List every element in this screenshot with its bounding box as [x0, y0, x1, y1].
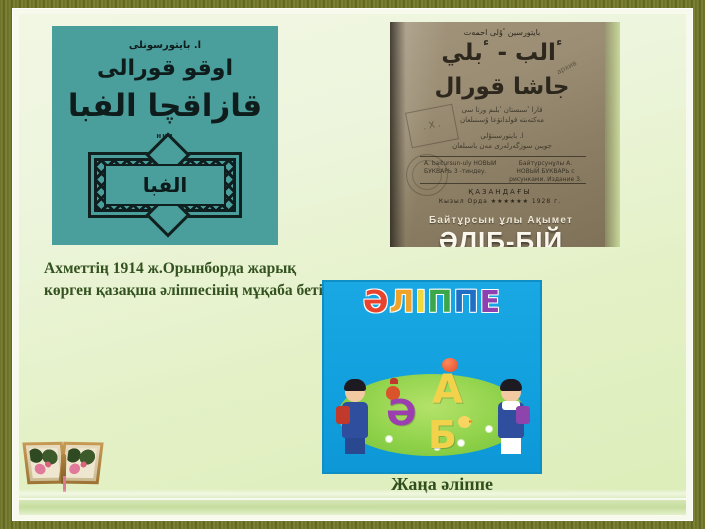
schoolgirl-illustration — [498, 382, 524, 454]
schoolgirl-head — [501, 382, 521, 402]
schoolboy-hair — [344, 379, 366, 391]
satchel-icon — [336, 406, 350, 424]
satchel-icon — [516, 406, 530, 424]
teal-cover-author-line: ا. بايتورسونلى — [52, 40, 278, 51]
schoolboy-illustration — [342, 382, 368, 454]
teal-cover-subtitle-line: اوقو قورالى — [52, 56, 278, 81]
image-alib-biy-photo-cover: بايتورسين ٴۇلى احمەت ٴالب - ٴبلي جاشا قو… — [390, 22, 620, 247]
caption-left-text: Ахметтің 1914 ж.Орынборда жарық көрген қ… — [44, 258, 334, 302]
book-scene-left — [29, 448, 61, 478]
open-book-icon — [19, 428, 105, 500]
alippe-title-letter-2: І — [415, 285, 427, 320]
flower-icon — [486, 426, 492, 432]
rooster-comb — [390, 378, 398, 384]
schoolgirl-legs — [501, 438, 521, 454]
lawn-letter-a: А — [432, 370, 463, 410]
alib-biy-photo-art: بايتورسين ٴۇلى احمەت ٴالب - ٴبلي جاشا قو… — [390, 22, 620, 247]
slide: ا. بايتورسونلى اوقو قورالى قازاقچا الفبا… — [0, 0, 705, 529]
alib-biy-author: Байтұрсын ұлы Ақымет — [400, 215, 602, 226]
schoolboy-legs — [345, 438, 365, 454]
chick-icon — [458, 416, 471, 428]
flower-icon — [386, 436, 392, 442]
lawn-letter-b: Б — [428, 416, 457, 454]
alib-biy-top-line: بايتورسين ٴۇلى احمەت — [404, 28, 600, 37]
alippe-title-letter-5: Е — [480, 285, 502, 320]
library-stamp-round-icon — [406, 154, 448, 196]
schoolboy-head — [345, 382, 365, 402]
alib-biy-title: ӘЛІБ-БІЙ — [400, 226, 602, 247]
emblem-plate: الفبا — [104, 164, 226, 206]
book-ribbon — [63, 476, 66, 492]
emblem-text: الفبا — [143, 173, 187, 197]
teal-cover-art: ا. بايتورسونلى اوقو قورالى قازاقچا الفبا… — [52, 26, 278, 245]
alippe-cover-art: ӘЛІППЕ А Ә Б — [324, 282, 540, 472]
alippe-title-letter-1: Л — [389, 285, 415, 320]
teal-cover-title-line: قازاقچا الفبا — [52, 88, 278, 124]
flower-icon — [458, 440, 464, 446]
caption-bottom-text: Жаңа әліппе — [322, 474, 562, 495]
alippe-title-letter-3: П — [427, 285, 453, 320]
alippe-title-letter-0: Ә — [363, 285, 389, 320]
teal-cover-emblem: الفبا — [88, 152, 242, 218]
alib-biy-year: Кызыл Орда ★★★★★★ 1928 г. — [390, 198, 610, 205]
alippe-cover-title: ӘЛІППЕ — [324, 288, 540, 318]
image-alippe-children-book-cover: ӘЛІППЕ А Ә Б — [322, 280, 542, 474]
image-kazakh-alphabet-teal-cover: ا. بايتورسونلى اوقو قورالى قازاقچا الفبا… — [52, 26, 278, 245]
schoolgirl-hair — [500, 379, 522, 391]
book-scene-right — [65, 448, 97, 478]
schoolboy-body — [342, 402, 368, 438]
slide-content: ا. بايتورسونلى اوقو قورالى قازاقچا الفبا… — [19, 14, 686, 515]
lawn-letter-ae: Ә — [386, 396, 417, 432]
alippe-title-letter-4: П — [454, 285, 480, 320]
alib-biy-rule-right-text: Байтурсунұлы А. НОВЫЙ БУКВАРЬ с рисункам… — [509, 160, 582, 184]
